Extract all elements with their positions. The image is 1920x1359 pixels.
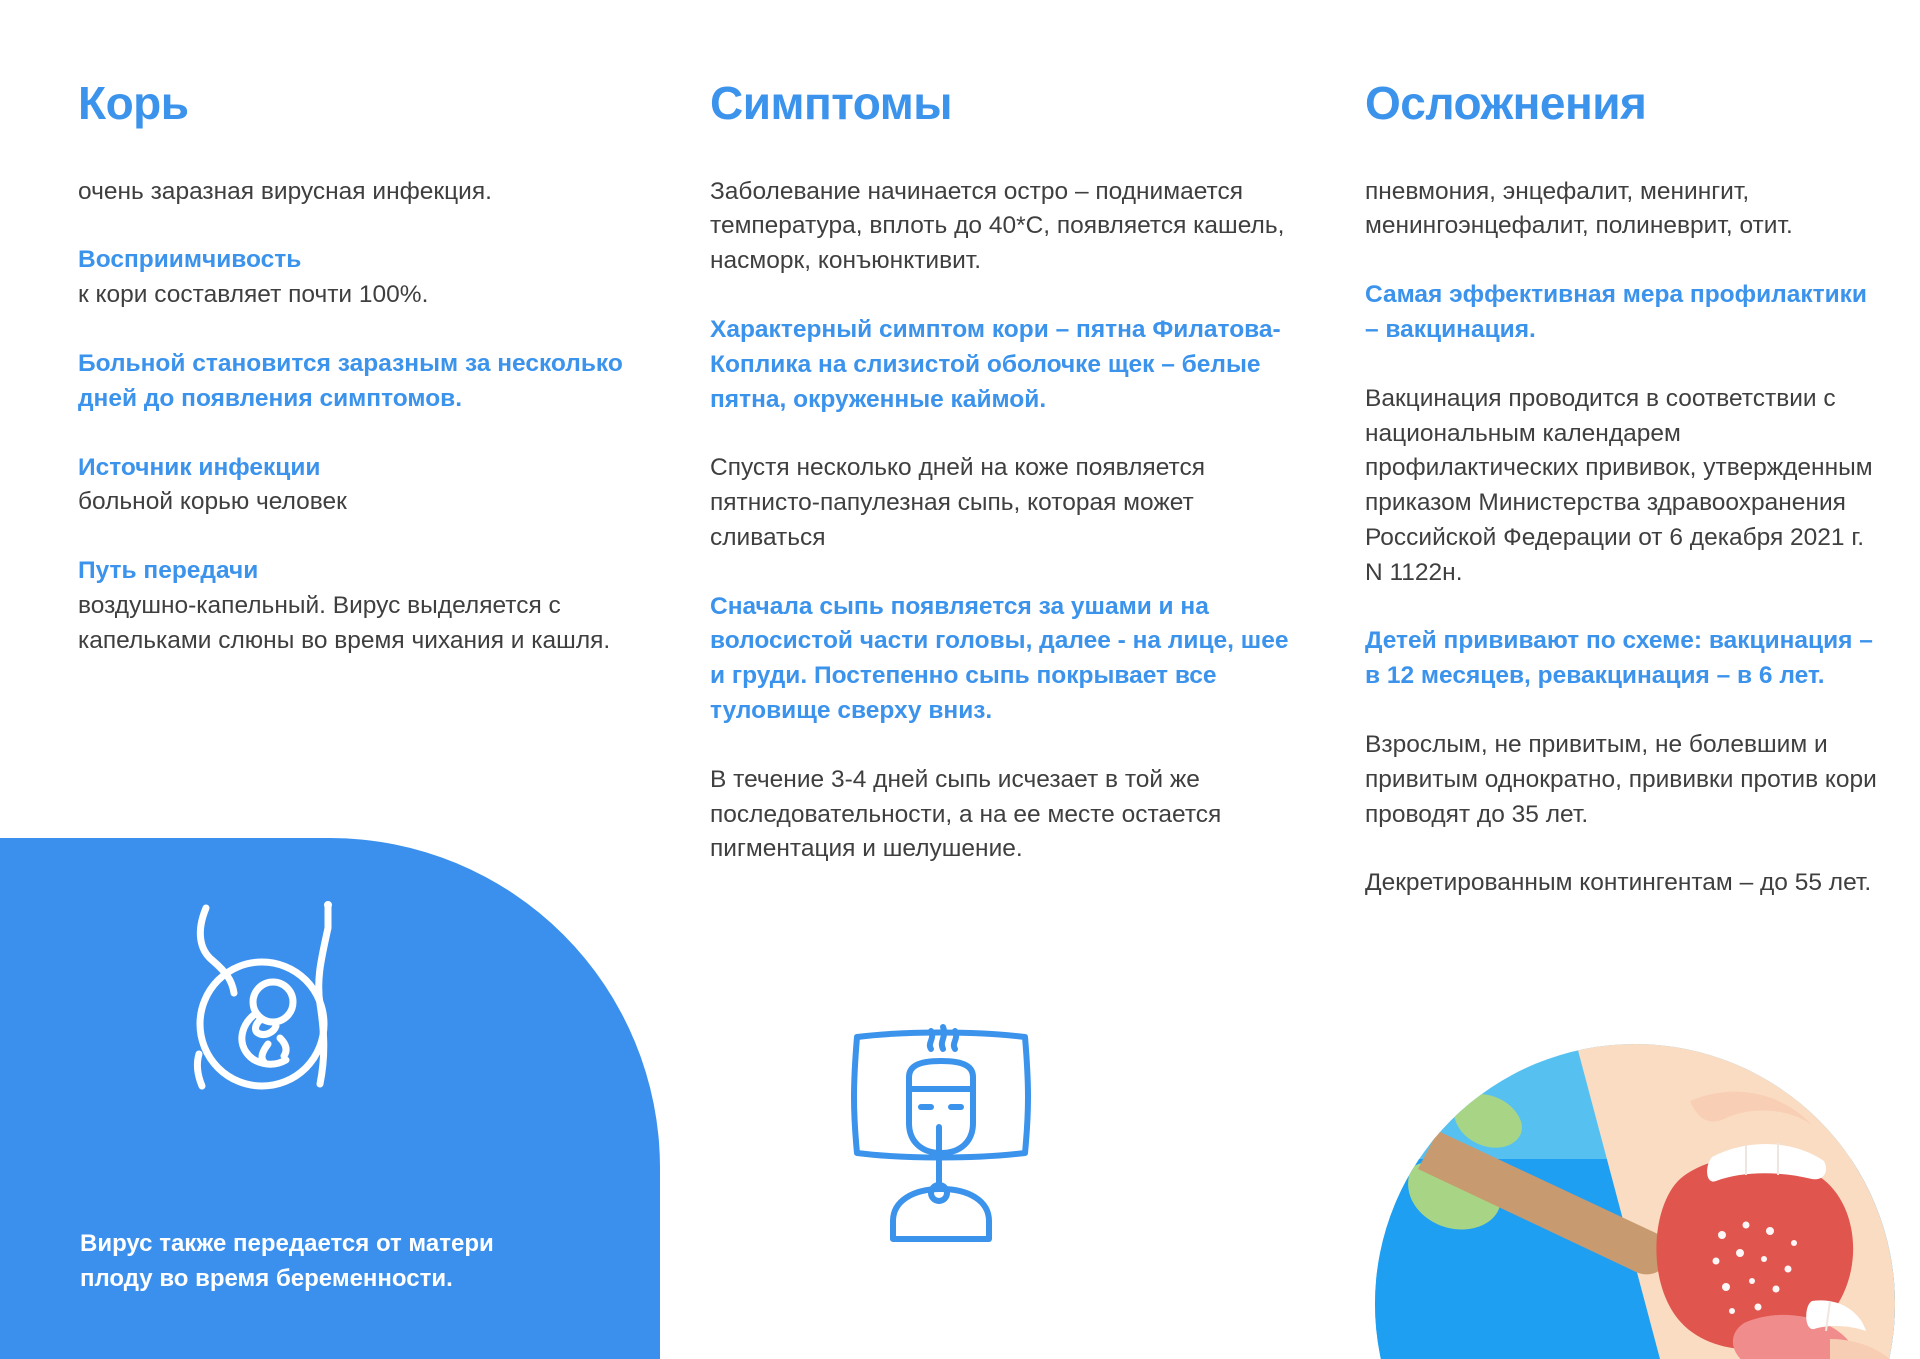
rash-spread-statement: Сначала сыпь появляется за ушами и на во… (710, 590, 1300, 729)
susceptibility-text: к кори составляет почти 100%. (78, 281, 428, 308)
rash-fading-description: В течение 3-4 дней сыпь исчезает в той ж… (710, 763, 1300, 867)
koplik-spots-statement: Характерный симптом кори – пятна Филатов… (710, 313, 1300, 417)
complications-title: Осложнения (1365, 78, 1885, 129)
symptoms-onset: Заболевание начинается остро – поднимает… (710, 175, 1300, 279)
infographic-page: Корь очень заразная вирусная инфекция. В… (0, 0, 1920, 1359)
pregnant-fetus-icon (150, 898, 380, 1133)
prevention-statement: Самая эффективная мера профилактики – ва… (1365, 278, 1885, 348)
column-complications: Осложнения пневмония, энцефалит, менинги… (1320, 0, 1920, 1359)
source-label: Источник инфекции (78, 454, 320, 481)
susceptibility-label: Восприимчивость (78, 246, 301, 273)
pregnancy-panel: Вирус также передается от матери плоду в… (0, 838, 660, 1359)
transmission-label: Путь передачи (78, 557, 258, 584)
decreed-contingents-text: Декретированным контингентам – до 55 лет… (1365, 866, 1885, 901)
transmission-block: Путь передачи воздушно-капельный. Вирус … (78, 554, 640, 658)
transmission-text: воздушно-капельный. Вирус выделяется с к… (78, 592, 610, 654)
source-text: больной корью человек (78, 488, 347, 515)
adults-vaccination-text: Взрослым, не привитым, не болевшим и при… (1365, 728, 1885, 832)
children-schedule-statement: Детей прививают по схеме: вакцинация – в… (1365, 624, 1885, 694)
susceptibility-block: Восприимчивость к кори составляет почти … (78, 243, 640, 313)
source-block: Источник инфекции больной корью человек (78, 451, 640, 521)
column-symptoms: Симптомы Заболевание начинается остро – … (660, 0, 1320, 1359)
page-title: Корь (78, 78, 640, 129)
measles-intro: очень заразная вирусная инфекция. (78, 175, 640, 210)
symptoms-title: Симптомы (710, 78, 1300, 129)
rash-description: Спустя несколько дней на коже появляется… (710, 451, 1300, 555)
panel-caption: Вирус также передается от матери плоду в… (80, 1227, 500, 1297)
column-measles: Корь очень заразная вирусная инфекция. В… (0, 0, 660, 1359)
vaccination-schedule-description: Вакцинация проводится в соответствии с н… (1365, 382, 1885, 591)
contagious-statement: Больной становится заразным за несколько… (78, 347, 640, 417)
sick-person-in-bed-icon (835, 1015, 1050, 1250)
throat-examination-illustration (1360, 1039, 1920, 1359)
complications-list: пневмония, энцефалит, менингит, менингоэ… (1365, 175, 1885, 245)
